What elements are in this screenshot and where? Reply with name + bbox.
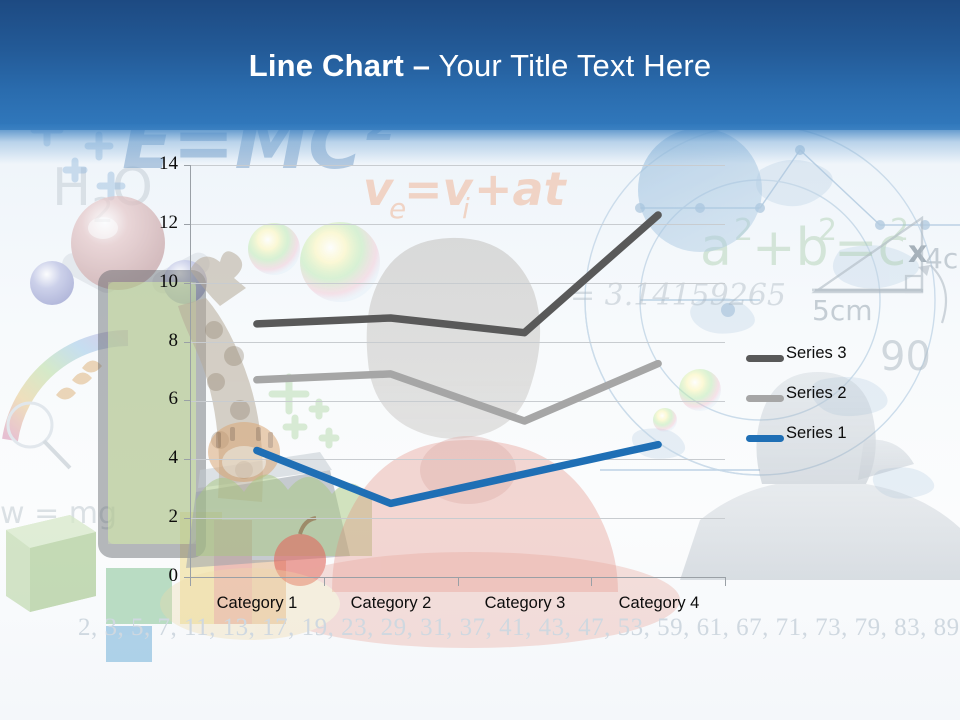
series-2-line [257, 364, 658, 421]
chart-legend: Series 3 Series 2 Series 1 [746, 340, 886, 460]
legend-marker-series-2 [746, 395, 784, 402]
legend-item-series-3[interactable]: Series 3 [746, 340, 886, 380]
primes-strip: 2, 3, 5, 7, 11, 13, 17, 19, 23, 29, 31, … [78, 614, 960, 642]
legend-label-series-1: Series 1 [786, 424, 847, 443]
legend-marker-series-3 [746, 355, 784, 362]
legend-marker-series-1 [746, 435, 784, 442]
slide-canvas: H 2 O E=MC 2 v e =v i +at = 3.14159265 a… [0, 0, 960, 720]
legend-item-series-2[interactable]: Series 2 [746, 380, 886, 420]
legend-label-series-3: Series 3 [786, 344, 847, 363]
legend-label-series-2: Series 2 [786, 384, 847, 403]
line-chart: 14 12 10 8 6 4 2 0 Category 1 Category 2… [0, 0, 960, 720]
legend-item-series-1[interactable]: Series 1 [746, 420, 886, 460]
series-3-line [257, 215, 658, 333]
series-1-line [257, 445, 658, 504]
